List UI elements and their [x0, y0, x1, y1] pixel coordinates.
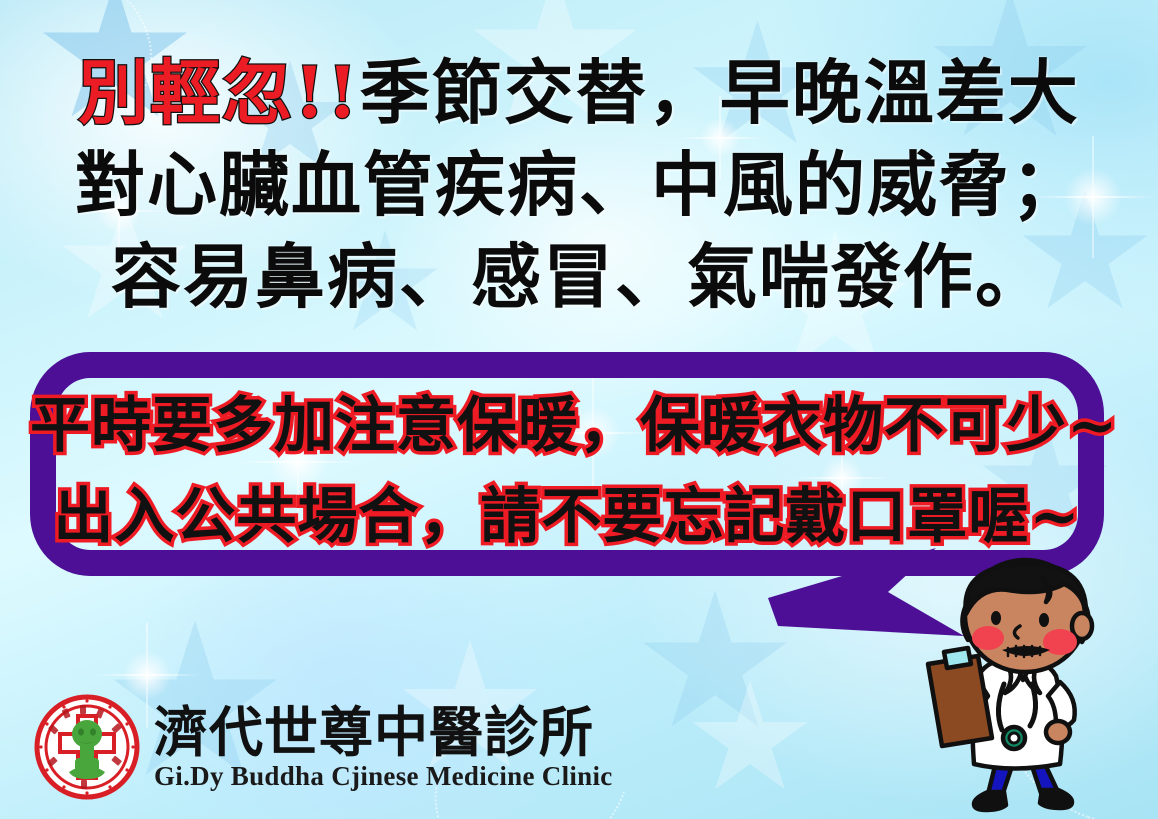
clinic-name-en: Gi.Dy Buddha Cjinese Medicine Clinic: [154, 763, 613, 790]
clinic-text-block: 濟代世尊中醫診所 Gi.Dy Buddha Cjinese Medicine C…: [154, 705, 613, 790]
headline-warning-text: 別輕忽!!: [78, 51, 359, 134]
clinic-seal-icon: [34, 694, 140, 800]
cartoon-doctor-illustration: [892, 556, 1158, 819]
headline-line-3: 容易鼻病、感冒、氣喘發作。: [0, 242, 1158, 312]
clinic-name-zh: 濟代世尊中醫診所: [154, 705, 613, 759]
headline-line-1: 別輕忽!!季節交替，早晚溫差大: [0, 58, 1158, 128]
background-star: [690, 680, 810, 800]
bubble-line-2: 出入公共場合，請不要忘記戴口罩喔~: [30, 487, 1104, 547]
sparkle: [122, 650, 172, 700]
decorative-dotted-arc: [972, 584, 1158, 819]
bubble-line-1: 平時要多加注意保暖，保暖衣物不可少~: [30, 396, 1104, 456]
headline-line-2: 對心臟血管疾病、中風的威脅；: [0, 150, 1158, 220]
background-star: [640, 590, 790, 740]
poster-canvas: 別輕忽!!季節交替，早晚溫差大 對心臟血管疾病、中風的威脅； 容易鼻病、感冒、氣…: [0, 0, 1158, 819]
clinic-identity: 濟代世尊中醫診所 Gi.Dy Buddha Cjinese Medicine C…: [34, 694, 613, 800]
headline-line-1-text: 季節交替，早晚溫差大: [360, 51, 1080, 134]
